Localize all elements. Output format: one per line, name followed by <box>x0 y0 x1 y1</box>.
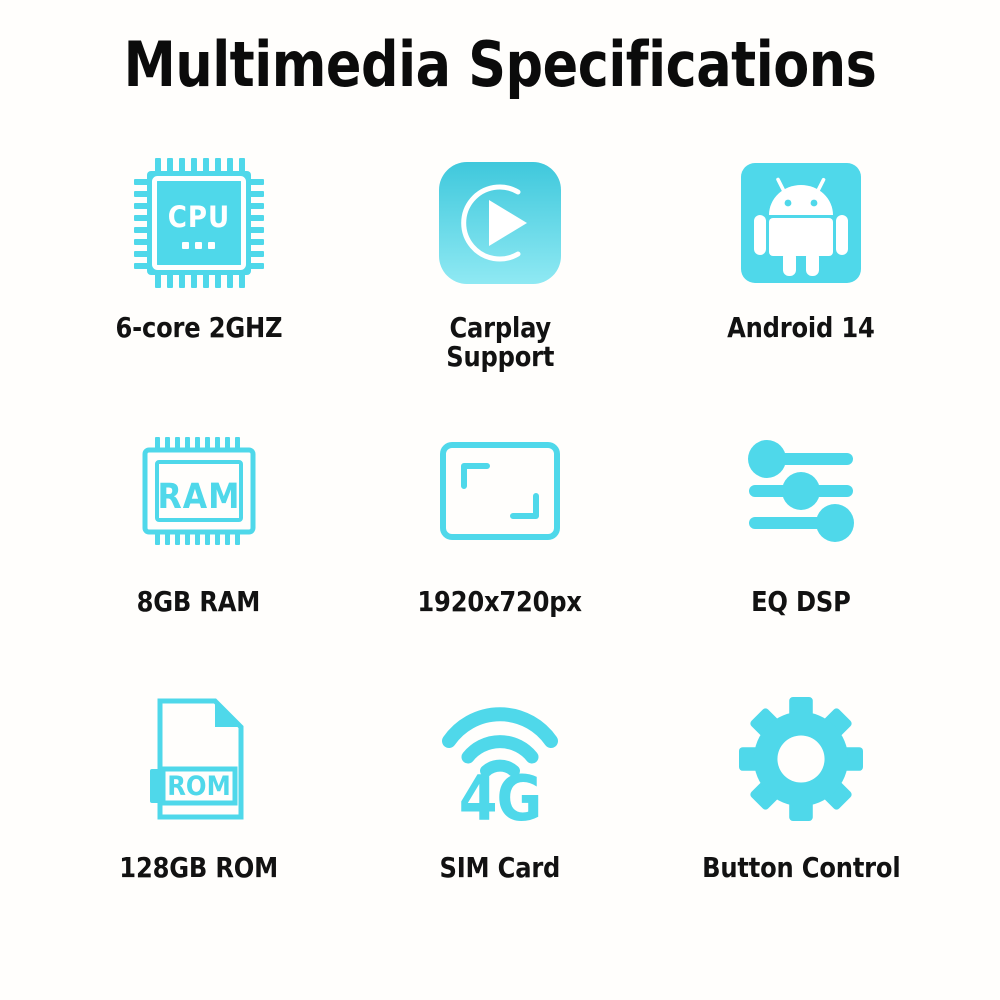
spec-card-carplay: Carplay Support <box>349 148 650 416</box>
spec-card-android: Android 14 <box>651 148 952 416</box>
rom-document-icon-slot: ROM <box>48 684 349 834</box>
rom-document-icon: ROM <box>147 697 251 821</box>
sim-card-4g-signal-icon-label: 4G <box>459 762 542 835</box>
spec-card-ram: RAM 8GB RAM <box>48 416 349 684</box>
spec-label: Button Control <box>702 854 900 883</box>
rom-document-icon-label: ROM <box>167 771 231 802</box>
spec-card-eq-dsp: EQ DSP <box>651 416 952 684</box>
corner-bracket-bottom-right-icon <box>513 496 536 516</box>
carplay-play-circle-icon-slot <box>349 148 650 298</box>
spec-card-rom: ROM 128GB ROM <box>48 684 349 952</box>
screen-resolution-icon <box>440 442 560 540</box>
ram-chip-icon: RAM <box>137 437 261 545</box>
equalizer-sliders-icon-slot <box>651 416 952 566</box>
cpu-chip-icon: CPU <box>132 156 266 290</box>
spec-label: Carplay Support <box>446 314 554 371</box>
cpu-chip-icon-label: CPU <box>167 200 229 234</box>
corner-bracket-top-left-icon <box>464 466 487 486</box>
page-title: Multimedia Specifications <box>30 28 970 101</box>
screen-resolution-icon-slot <box>349 416 650 566</box>
ram-chip-icon-label: RAM <box>157 477 240 517</box>
spec-label: SIM Card <box>440 854 561 883</box>
spec-card-sim-card: 4G SIM Card <box>349 684 650 952</box>
spec-card-resolution: 1920x720px <box>349 416 650 684</box>
gear-settings-icon <box>739 697 863 821</box>
spec-card-button-control: Button Control <box>651 684 952 952</box>
sim-card-4g-signal-icon: 4G <box>441 695 559 823</box>
gear-settings-icon-slot <box>651 684 952 834</box>
equalizer-sliders-icon <box>739 440 863 542</box>
spec-label: 8GB RAM <box>137 588 261 617</box>
spec-label: 1920x720px <box>418 588 582 617</box>
spec-card-cpu: CPU 6-core 2GHZ <box>48 148 349 416</box>
specs-grid: CPU 6-core 2GHZ <box>48 148 952 952</box>
sim-card-4g-signal-icon-slot: 4G <box>349 684 650 834</box>
infographic-page: Multimedia Specifications <box>0 0 1000 1000</box>
spec-label: 6-core 2GHZ <box>115 314 282 343</box>
android-robot-icon-slot <box>651 148 952 298</box>
spec-label: 128GB ROM <box>119 854 278 883</box>
carplay-play-circle-icon <box>439 162 561 284</box>
android-robot-icon <box>741 163 861 283</box>
cpu-chip-icon-slot: CPU <box>48 148 349 298</box>
spec-label: EQ DSP <box>752 588 852 617</box>
spec-label: Android 14 <box>728 314 876 343</box>
ram-chip-icon-slot: RAM <box>48 416 349 566</box>
